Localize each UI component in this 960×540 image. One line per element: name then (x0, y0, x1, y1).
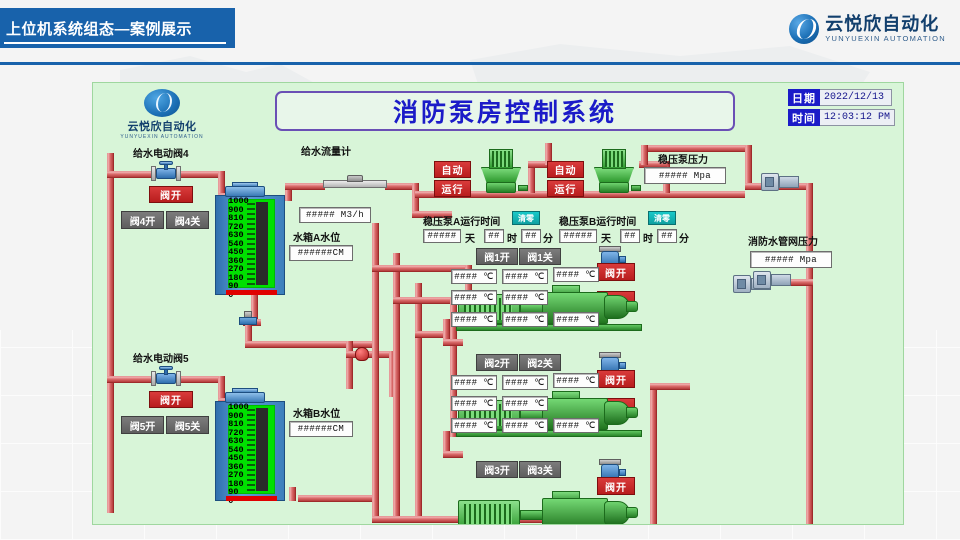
valve5-label: 给水电动阀5 (133, 350, 189, 365)
jockey-a-runtime-days: ##### (423, 229, 461, 243)
pipe-tankB-outlet (298, 495, 378, 502)
pipe-valve4-inlet (107, 171, 153, 178)
tank-b-scale: 1000900810 720630540 450360270 180900 (228, 403, 249, 497)
tank-b-base (226, 496, 276, 501)
pipe-main-riser-3 (415, 283, 422, 519)
datetime-panel: 日期 2022/12/13 时间 12:03:12 PM (788, 89, 895, 126)
tank-b-relief-valve-icon (355, 347, 369, 361)
network-pressure-label: 消防水管网压力 (748, 233, 818, 248)
slide-title-text: 上位机系统组态—案例展示 (0, 18, 192, 39)
company-logo-icon (789, 14, 819, 44)
tank-a-lid-top (232, 182, 259, 187)
jockey-a-runtime-hours: ## (484, 229, 504, 243)
jockey-a-runtime-hours-unit: 时 (507, 230, 517, 245)
hmi-logo-icon (144, 89, 180, 117)
valve5-icon[interactable] (151, 368, 181, 386)
hmi-title-text: 消防泵房控制系统 (393, 93, 617, 129)
jockey-b-auto-button[interactable]: 自动 (547, 161, 584, 178)
tank-a-level-value: ######CM (289, 245, 353, 261)
pump2-temp-1: #### ℃ (451, 375, 497, 390)
pump2-temp-5: #### ℃ (502, 396, 548, 411)
tank-b-level-label: 水箱B水位 (293, 405, 340, 420)
jockey-a-run-button[interactable]: 运行 (434, 180, 471, 197)
pipe-branch-pump2-a (393, 297, 457, 304)
jockey-a-auto-button[interactable]: 自动 (434, 161, 471, 178)
pump1-temp-1: #### ℃ (451, 269, 497, 284)
pipe-tankB-outlet-v (289, 487, 296, 501)
flowmeter-value: ##### M3/h (299, 207, 371, 223)
pump1-temp-5: #### ℃ (502, 290, 548, 305)
jockey-pressure-label: 稳压泵压力 (658, 151, 708, 166)
pipe-tankB-top-riser (346, 341, 353, 389)
jockey-b-runtime-reset-button[interactable]: 清零 (648, 211, 676, 225)
company-name-en: YUNYUEXIN AUTOMATION (825, 35, 946, 43)
tank-b: 1000900810 720630540 450360270 180900 (215, 401, 285, 501)
jockey-pressure-value: ##### Mpa (644, 167, 726, 184)
pump1-valve-close-button[interactable]: 阀1关 (519, 248, 561, 265)
tank-b-level-value: ######CM (289, 421, 353, 437)
hmi-logo-name-cn: 云悦欣自动化 (109, 118, 215, 134)
jockey-pump-b-icon[interactable] (594, 149, 634, 193)
pipe-pump1-suction-h (443, 339, 463, 346)
time-row: 时间 12:03:12 PM (788, 109, 895, 126)
pipe-suction-header (245, 341, 375, 348)
pipe-branch-pump3-a (415, 331, 445, 338)
date-value: 2022/12/13 (820, 89, 892, 106)
date-label: 日期 (788, 89, 820, 106)
tank-a-base (226, 290, 276, 295)
pump2-temp-4: #### ℃ (451, 396, 497, 411)
valve4-icon[interactable] (151, 163, 181, 181)
pump3-valve-close-button[interactable]: 阀3关 (519, 461, 561, 478)
jockey-b-runtime-minutes: ## (657, 229, 677, 243)
flowmeter-icon (323, 175, 387, 191)
pump2-temp-6: #### ℃ (451, 418, 497, 433)
network-pressure-value: ##### Mpa (750, 251, 832, 268)
jockey-b-runtime-days: ##### (559, 229, 597, 243)
tank-b-lid-top (232, 388, 259, 393)
valve4-label: 给水电动阀4 (133, 145, 189, 160)
pipe-left-riser (107, 153, 114, 513)
hmi-title-box: 消防泵房控制系统 (275, 91, 735, 131)
company-name-cn: 云悦欣自动化 (825, 15, 946, 33)
pump2-temp-8: #### ℃ (553, 418, 599, 433)
pump2-temp-3: #### ℃ (553, 373, 599, 388)
date-row: 日期 2022/12/13 (788, 89, 895, 106)
jockey-a-runtime-minutes-unit: 分 (543, 230, 553, 245)
jockey-a-runtime-label: 稳压泵A运行时间 (423, 213, 500, 228)
valve5-close-button[interactable]: 阀5关 (166, 416, 209, 434)
time-label: 时间 (788, 109, 820, 126)
jockey-a-runtime-days-unit: 天 (465, 230, 475, 245)
pipe-flowmeter-left (285, 183, 325, 190)
tank-a-scale: 1000900810 720630540 450360270 180900 (228, 197, 249, 291)
pump2-valve-open-button[interactable]: 阀2开 (476, 354, 518, 371)
pump3-valve-open-button[interactable]: 阀3开 (476, 461, 518, 478)
pump3-icon[interactable] (456, 481, 642, 525)
pump1-temp-7: #### ℃ (502, 312, 548, 327)
hmi-logo: 云悦欣自动化 YUNYUEXIN AUTOMATION (109, 89, 215, 140)
jockey-b-runtime-label: 稳压泵B运行时间 (559, 213, 636, 228)
jockey-b-runtime-days-unit: 天 (601, 230, 611, 245)
company-brand: 云悦欣自动化 YUNYUEXIN AUTOMATION (789, 14, 946, 44)
hmi-logo-name-en: YUNYUEXIN AUTOMATION (109, 134, 215, 140)
valve5-open-button[interactable]: 阀5开 (121, 416, 164, 434)
pipe-press-left (641, 145, 648, 165)
pump2-temp-2: #### ℃ (502, 375, 548, 390)
valve5-state-indicator: 阀开 (149, 391, 193, 408)
pump1-valve-open-button[interactable]: 阀1开 (476, 248, 518, 265)
pipe-pump-disch-riser (650, 383, 657, 525)
jockey-a-runtime-reset-button[interactable]: 清零 (512, 211, 540, 225)
pump1-temp-2: #### ℃ (502, 269, 548, 284)
valve4-open-button[interactable]: 阀4开 (121, 211, 164, 229)
pump2-valve-close-button[interactable]: 阀2关 (519, 354, 561, 371)
tank-a-level-label: 水箱A水位 (293, 229, 340, 244)
valve4-close-button[interactable]: 阀4关 (166, 211, 209, 229)
jockey-b-runtime-minutes-unit: 分 (679, 230, 689, 245)
valve4-state-indicator: 阀开 (149, 186, 193, 203)
hmi-canvas: 云悦欣自动化 YUNYUEXIN AUTOMATION 消防泵房控制系统 日期 … (92, 82, 904, 525)
jockey-pressure-transmitter-icon (761, 171, 799, 193)
strainer-icon (239, 311, 257, 331)
pump1-temp-8: #### ℃ (553, 312, 599, 327)
pipe-valve5-inlet (107, 376, 153, 383)
pump1-temp-3: #### ℃ (553, 267, 599, 282)
slide-title-underline (4, 42, 226, 44)
flowmeter-label: 给水流量计 (301, 143, 351, 158)
jockey-pump-a-icon[interactable] (481, 149, 521, 193)
pipe-main-riser-2 (393, 253, 400, 519)
pump2-temp-7: #### ℃ (502, 418, 548, 433)
tank-a: 1000900810 720630540 450360270 180900 (215, 195, 285, 295)
time-value: 12:03:12 PM (820, 109, 895, 126)
jockey-b-runtime-hours-unit: 时 (643, 230, 653, 245)
network-transmitter-secondary-icon (753, 269, 791, 291)
jockey-a-runtime-minutes: ## (521, 229, 541, 243)
pipe-pump1-discharge (650, 383, 690, 390)
pump1-temp-6: #### ℃ (451, 312, 497, 327)
jockey-b-runtime-hours: ## (620, 229, 640, 243)
pipe-pump2-suction-h (443, 451, 463, 458)
jockey-b-run-button[interactable]: 运行 (547, 180, 584, 197)
header-divider (0, 62, 960, 65)
pump1-temp-4: #### ℃ (451, 290, 497, 305)
